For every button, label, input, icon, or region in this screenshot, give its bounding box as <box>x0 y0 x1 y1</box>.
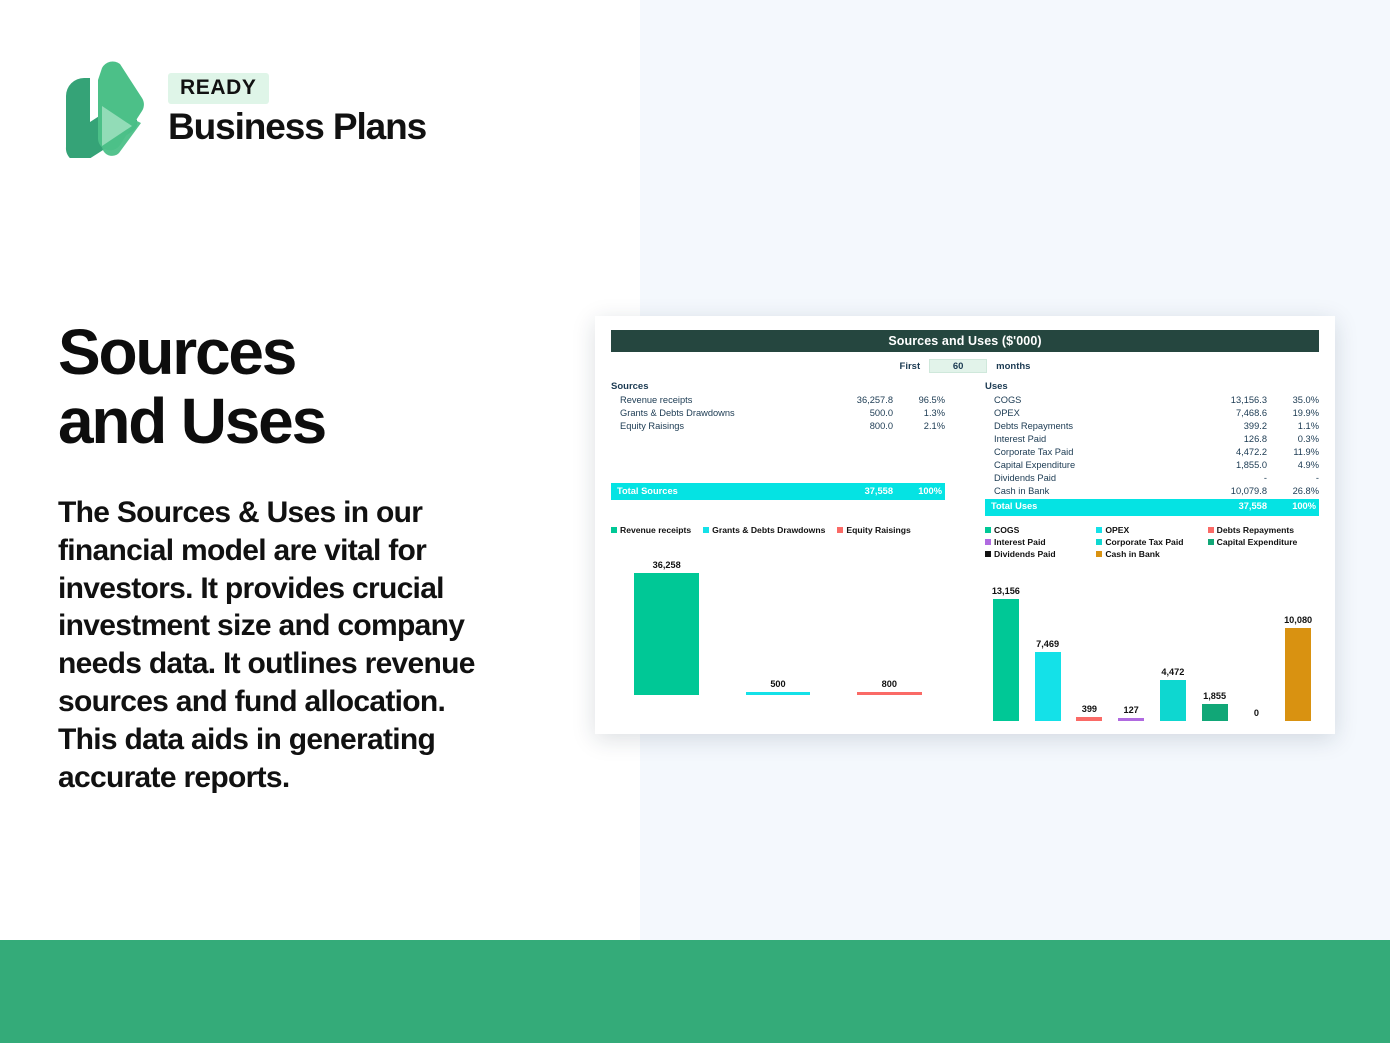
row-amount: 500.0 <box>823 407 893 420</box>
legend-label: Grants & Debts Drawdowns <box>712 525 825 535</box>
legend-item: OPEX <box>1096 525 1207 535</box>
row-label: COGS <box>985 394 1197 407</box>
table-row: Revenue receipts36,257.896.5% <box>611 394 945 407</box>
uses-table-wrap: Uses COGS13,156.335.0%OPEX7,468.619.9%De… <box>985 381 1319 516</box>
table-spacer-row <box>611 463 945 473</box>
row-percent: 2.1% <box>893 420 945 433</box>
period-unit-label: months <box>996 361 1030 372</box>
table-row: Cash in Bank10,079.826.8% <box>985 486 1319 499</box>
bar-column: 13,156 <box>985 569 1027 721</box>
legend-swatch-icon <box>611 527 617 533</box>
legend-label: Cash in Bank <box>1105 549 1159 559</box>
uses-bar-chart: COGSOPEXDebts RepaymentsInterest PaidCor… <box>985 525 1319 721</box>
legend-label: Dividends Paid <box>994 549 1056 559</box>
row-label: Grants & Debts Drawdowns <box>611 407 823 420</box>
legend-label: Capital Expenditure <box>1217 537 1298 547</box>
brand-wordmark: READY Business Plans <box>168 69 426 147</box>
row-amount: 399.2 <box>1197 420 1267 433</box>
bar-value-label: 1,855 <box>1203 691 1226 701</box>
uses-table: COGS13,156.335.0%OPEX7,468.619.9%Debts R… <box>985 394 1319 516</box>
row-label: Revenue receipts <box>611 394 823 407</box>
row-label: Capital Expenditure <box>985 459 1197 472</box>
legend-item: Revenue receipts <box>611 525 691 535</box>
row-label: Corporate Tax Paid <box>985 446 1197 459</box>
bar-value-label: 10,080 <box>1284 615 1312 625</box>
total-amount: 37,558 <box>823 483 893 500</box>
row-amount: 7,468.6 <box>1197 407 1267 420</box>
row-amount: 36,257.8 <box>823 394 893 407</box>
legend-item: Interest Paid <box>985 537 1096 547</box>
bar-value-label: 800 <box>882 679 897 689</box>
bar-value-label: 127 <box>1123 705 1138 715</box>
row-amount: 4,472.2 <box>1197 446 1267 459</box>
bar-value-label: 0 <box>1254 708 1259 718</box>
row-amount: 126.8 <box>1197 433 1267 446</box>
legend-swatch-icon <box>985 527 991 533</box>
bar-column: 399 <box>1069 569 1111 721</box>
table-spacer-row <box>611 433 945 443</box>
legend-item: Capital Expenditure <box>1208 537 1319 547</box>
row-percent: 4.9% <box>1267 459 1319 472</box>
legend-item: Corporate Tax Paid <box>1096 537 1207 547</box>
total-label: Total Uses <box>985 499 1197 516</box>
brand-badge-ready: READY <box>168 73 269 104</box>
bar-column: 36,258 <box>611 543 722 695</box>
bar <box>746 692 811 695</box>
uses-heading: Uses <box>985 381 1319 392</box>
bar-column: 500 <box>722 543 833 695</box>
sources-chart-legend: Revenue receiptsGrants & Debts Drawdowns… <box>611 525 945 535</box>
row-label: OPEX <box>985 407 1197 420</box>
total-label: Total Sources <box>611 483 823 500</box>
brand-name: Business Plans <box>168 108 426 147</box>
table-row: Capital Expenditure1,855.04.9% <box>985 459 1319 472</box>
row-amount: 800.0 <box>823 420 893 433</box>
table-spacer-row <box>611 453 945 463</box>
row-amount: 1,855.0 <box>1197 459 1267 472</box>
play-button-logo-icon <box>58 58 154 158</box>
bar-column: 127 <box>1110 569 1152 721</box>
legend-item: Debts Repayments <box>1208 525 1319 535</box>
bar-column: 1,855 <box>1194 569 1236 721</box>
sources-table: Revenue receipts36,257.896.5%Grants & De… <box>611 394 945 500</box>
row-label: Interest Paid <box>985 433 1197 446</box>
legend-swatch-icon <box>703 527 709 533</box>
sources-heading: Sources <box>611 381 945 392</box>
bar <box>1285 628 1311 721</box>
bar-value-label: 399 <box>1082 704 1097 714</box>
bar <box>1118 718 1144 721</box>
bar <box>993 599 1019 721</box>
row-amount: - <box>1197 472 1267 485</box>
sources-table-wrap: Sources Revenue receipts36,257.896.5%Gra… <box>611 381 945 516</box>
legend-swatch-icon <box>1208 527 1214 533</box>
table-total-row: Total Uses37,558100% <box>985 499 1319 516</box>
legend-swatch-icon <box>1096 551 1102 557</box>
table-row: Corporate Tax Paid4,472.211.9% <box>985 446 1319 459</box>
row-percent: 19.9% <box>1267 407 1319 420</box>
total-amount: 37,558 <box>1197 499 1267 516</box>
legend-label: Revenue receipts <box>620 525 691 535</box>
row-label: Debts Repayments <box>985 420 1197 433</box>
sources-bar-chart: Revenue receiptsGrants & Debts Drawdowns… <box>611 525 945 721</box>
row-percent: 0.3% <box>1267 433 1319 446</box>
table-row: OPEX7,468.619.9% <box>985 407 1319 420</box>
total-percent: 100% <box>1267 499 1319 516</box>
legend-label: Debts Repayments <box>1217 525 1294 535</box>
tables-row: Sources Revenue receipts36,257.896.5%Gra… <box>595 381 1335 516</box>
footer-band <box>0 940 1390 1043</box>
bar-column: 7,469 <box>1027 569 1069 721</box>
period-selector: First 60 months <box>595 359 1335 373</box>
period-prefix-label: First <box>900 361 921 372</box>
row-amount: 10,079.8 <box>1197 486 1267 499</box>
legend-swatch-icon <box>985 551 991 557</box>
bar-value-label: 500 <box>770 679 785 689</box>
legend-swatch-icon <box>1096 527 1102 533</box>
bar-value-label: 7,469 <box>1036 639 1059 649</box>
table-spacer-row <box>611 473 945 483</box>
page-title-line-0: Sources <box>58 318 578 387</box>
legend-label: COGS <box>994 525 1019 535</box>
legend-item: Cash in Bank <box>1096 549 1207 559</box>
row-percent: - <box>1267 472 1319 485</box>
bar <box>634 573 699 695</box>
legend-item: Dividends Paid <box>985 549 1096 559</box>
row-label: Equity Raisings <box>611 420 823 433</box>
bar-column: 0 <box>1236 569 1278 721</box>
legend-item: Grants & Debts Drawdowns <box>703 525 825 535</box>
bar-value-label: 13,156 <box>992 586 1020 596</box>
legend-label: Interest Paid <box>994 537 1046 547</box>
page-title: Sourcesand Uses <box>58 318 578 456</box>
bar <box>1035 652 1061 721</box>
bar <box>1160 680 1186 721</box>
row-percent: 1.3% <box>893 407 945 420</box>
total-percent: 100% <box>893 483 945 500</box>
legend-label: OPEX <box>1105 525 1129 535</box>
bar-column: 800 <box>834 543 945 695</box>
brand-logo: READY Business Plans <box>58 58 426 158</box>
row-percent: 26.8% <box>1267 486 1319 499</box>
legend-item: Equity Raisings <box>837 525 910 535</box>
sources-and-uses-card: Sources and Uses ($'000) First 60 months… <box>595 316 1335 734</box>
charts-row: Revenue receiptsGrants & Debts Drawdowns… <box>595 525 1335 721</box>
page-description: The Sources & Uses in our financial mode… <box>58 494 508 796</box>
row-percent: 35.0% <box>1267 394 1319 407</box>
legend-swatch-icon <box>1208 539 1214 545</box>
table-row: Debts Repayments399.21.1% <box>985 420 1319 433</box>
table-row: Grants & Debts Drawdowns500.01.3% <box>611 407 945 420</box>
uses-chart-legend: COGSOPEXDebts RepaymentsInterest PaidCor… <box>985 525 1319 561</box>
row-percent: 11.9% <box>1267 446 1319 459</box>
card-title: Sources and Uses ($'000) <box>611 330 1319 352</box>
bar-column: 4,472 <box>1152 569 1194 721</box>
bar <box>1202 704 1228 721</box>
table-row: Dividends Paid-- <box>985 472 1319 485</box>
bar-value-label: 4,472 <box>1161 667 1184 677</box>
legend-swatch-icon <box>985 539 991 545</box>
row-percent: 96.5% <box>893 394 945 407</box>
bar-value-label: 36,258 <box>653 560 681 570</box>
table-row: Interest Paid126.80.3% <box>985 433 1319 446</box>
table-total-row: Total Sources37,558100% <box>611 483 945 500</box>
legend-swatch-icon <box>1096 539 1102 545</box>
sources-chart-plot: 36,258500800 <box>611 543 945 695</box>
row-label: Cash in Bank <box>985 486 1197 499</box>
period-months-input[interactable]: 60 <box>929 359 987 373</box>
page-title-line-1: and Uses <box>58 387 578 456</box>
legend-label: Equity Raisings <box>846 525 910 535</box>
bar <box>1076 717 1102 721</box>
row-label: Dividends Paid <box>985 472 1197 485</box>
table-row: COGS13,156.335.0% <box>985 394 1319 407</box>
table-row: Equity Raisings800.02.1% <box>611 420 945 433</box>
legend-label: Corporate Tax Paid <box>1105 537 1183 547</box>
legend-swatch-icon <box>837 527 843 533</box>
uses-chart-plot: 13,1567,4693991274,4721,855010,080 <box>985 569 1319 721</box>
table-spacer-row <box>611 443 945 453</box>
legend-item: COGS <box>985 525 1096 535</box>
bar-column: 10,080 <box>1277 569 1319 721</box>
bar <box>857 692 922 695</box>
row-percent: 1.1% <box>1267 420 1319 433</box>
row-amount: 13,156.3 <box>1197 394 1267 407</box>
